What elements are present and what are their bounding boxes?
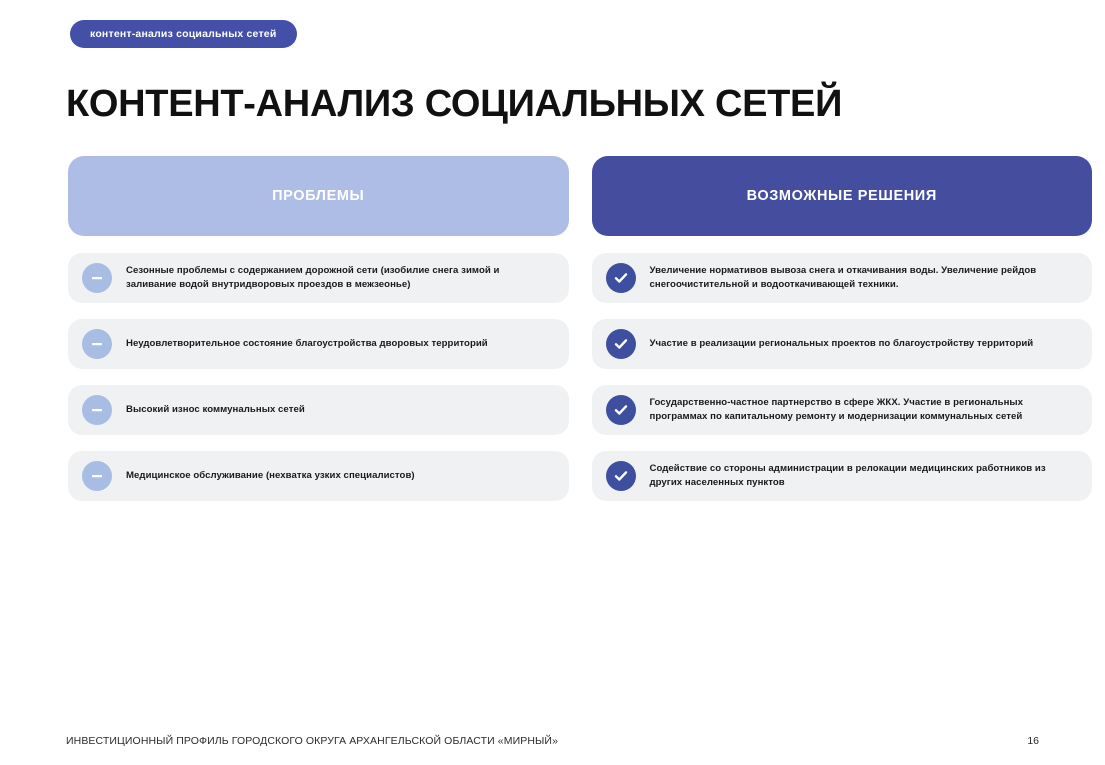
list-item[interactable]: Государственно-частное партнерство в сфе… xyxy=(592,385,1093,435)
list-item[interactable]: Медицинское обслуживание (нехватка узких… xyxy=(68,451,569,501)
list-item-label: Содействие со стороны администрации в ре… xyxy=(650,462,1075,489)
list-item[interactable]: Увеличение нормативов вывоза снега и отк… xyxy=(592,253,1093,303)
column-solutions: ВОЗМОЖНЫЕ РЕШЕНИЯ Увеличение нормативов … xyxy=(592,156,1093,501)
list-item[interactable]: Высокий износ коммунальных сетей xyxy=(68,385,569,435)
check-circle-icon xyxy=(606,395,636,425)
list-item-label: Неудовлетворительное состояние благоустр… xyxy=(126,337,488,351)
comparison-columns: ПРОБЛЕМЫ Сезонные проблемы с содержанием… xyxy=(68,156,1092,501)
minus-circle-icon xyxy=(82,263,112,293)
list-item-label: Медицинское обслуживание (нехватка узких… xyxy=(126,469,415,483)
list-item-label: Высокий износ коммунальных сетей xyxy=(126,403,305,417)
column-problems: ПРОБЛЕМЫ Сезонные проблемы с содержанием… xyxy=(68,156,569,501)
check-circle-icon xyxy=(606,461,636,491)
list-item-label: Увеличение нормативов вывоза снега и отк… xyxy=(650,264,1075,291)
list-item[interactable]: Сезонные проблемы с содержанием дорожной… xyxy=(68,253,569,303)
column-header-solutions: ВОЗМОЖНЫЕ РЕШЕНИЯ xyxy=(592,156,1093,236)
list-item[interactable]: Содействие со стороны администрации в ре… xyxy=(592,451,1093,501)
column-header-problems: ПРОБЛЕМЫ xyxy=(68,156,569,236)
minus-circle-icon xyxy=(82,395,112,425)
slide: контент-анализ социальных сетей КОНТЕНТ-… xyxy=(0,0,1105,765)
page-title: КОНТЕНТ-АНАЛИЗ СОЦИАЛЬНЫХ СЕТЕЙ xyxy=(66,83,842,126)
slide-badge: контент-анализ социальных сетей xyxy=(70,20,297,48)
list-item-label: Сезонные проблемы с содержанием дорожной… xyxy=(126,264,551,291)
footer-caption: ИНВЕСТИЦИОННЫЙ ПРОФИЛЬ ГОРОДСКОГО ОКРУГА… xyxy=(66,735,558,747)
list-item-label: Государственно-частное партнерство в сфе… xyxy=(650,396,1075,423)
list-item-label: Участие в реализации региональных проект… xyxy=(650,337,1034,351)
minus-circle-icon xyxy=(82,329,112,359)
minus-circle-icon xyxy=(82,461,112,491)
check-circle-icon xyxy=(606,329,636,359)
list-item[interactable]: Участие в реализации региональных проект… xyxy=(592,319,1093,369)
page-number: 16 xyxy=(1027,735,1039,747)
check-circle-icon xyxy=(606,263,636,293)
list-item[interactable]: Неудовлетворительное состояние благоустр… xyxy=(68,319,569,369)
